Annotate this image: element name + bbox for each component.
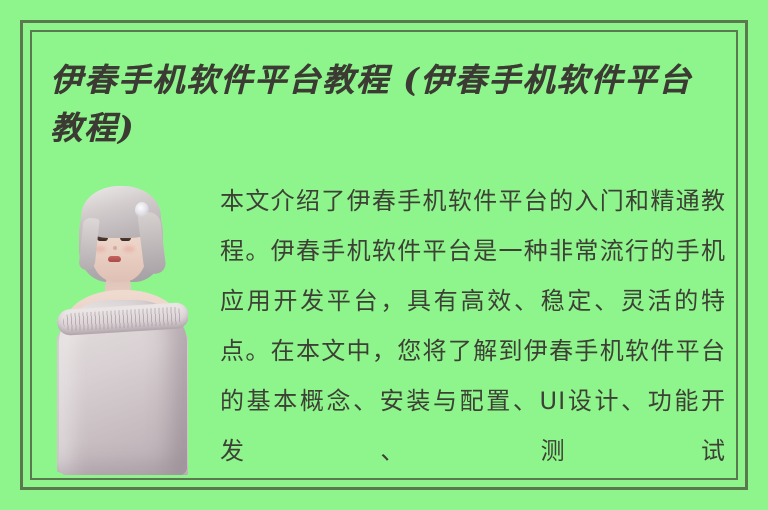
collar-rib-texture [63, 306, 184, 331]
mouth [108, 256, 121, 262]
character-figure [57, 178, 188, 475]
article-card: 伊春手机软件平台教程 (伊春手机软件平台教程) [0, 0, 768, 510]
blush-right [123, 246, 135, 252]
nose [113, 246, 117, 250]
hair-ornament-icon [135, 202, 149, 218]
content-row: 本文介绍了伊春手机软件平台的入门和精通教程。伊春手机软件平台是一种非常流行的手机… [50, 176, 726, 476]
page-title: 伊春手机软件平台教程 (伊春手机软件平台教程) [50, 56, 718, 152]
character-illustration [57, 178, 188, 475]
article-body: 本文介绍了伊春手机软件平台的入门和精通教程。伊春手机软件平台是一种非常流行的手机… [220, 176, 726, 476]
